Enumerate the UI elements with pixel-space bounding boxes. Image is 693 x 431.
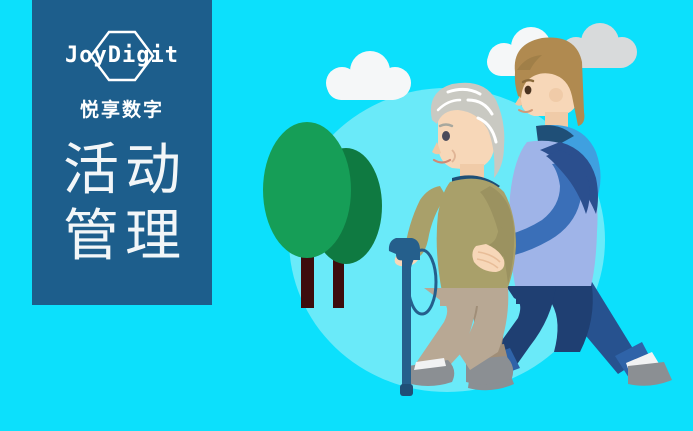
young-man-back-shoe: [628, 362, 672, 386]
page-title: 活动 管理: [32, 138, 212, 270]
logo-subtitle: 悦享数字: [32, 95, 212, 122]
poster-canvas: JoyDigit 悦享数字 活动 管理: [0, 0, 693, 431]
cane-tip: [400, 384, 413, 396]
page-title-line-1: 活动: [32, 138, 212, 204]
young-man-eye: [525, 86, 532, 95]
page-title-line-2: 管理: [32, 204, 212, 270]
brand-logo: JoyDigit 悦享数字: [32, 30, 212, 122]
logo-mark: JoyDigit: [47, 30, 197, 82]
left-title-panel: JoyDigit 悦享数字 活动 管理: [32, 0, 212, 305]
elder-eye: [442, 131, 450, 141]
logo-wordmark: JoyDigit: [47, 45, 197, 67]
